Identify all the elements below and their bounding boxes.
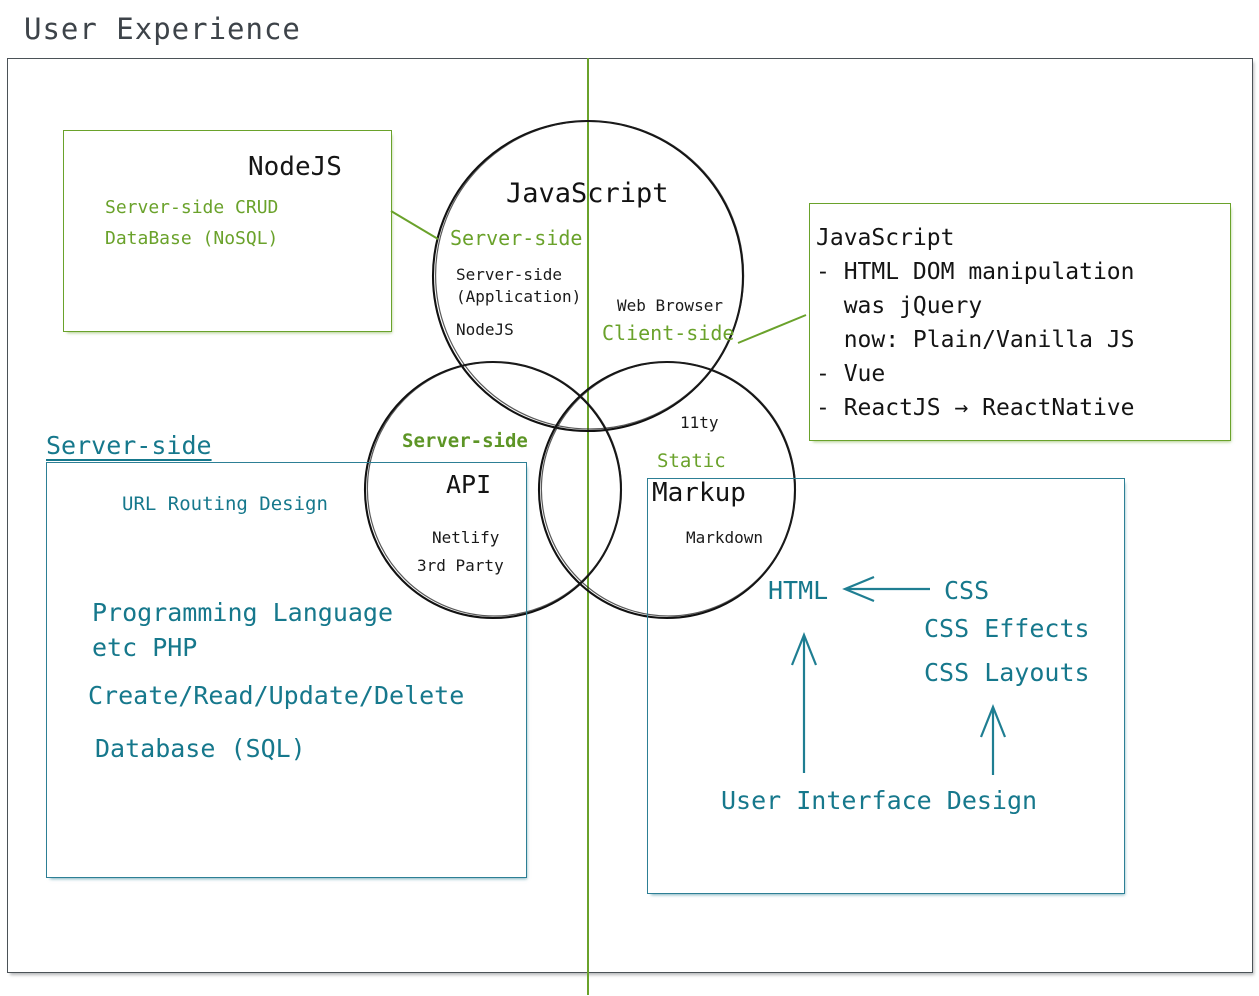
- frontend-css-label: CSS: [944, 576, 989, 605]
- js-detail-line-1: JavaScript: [816, 225, 954, 251]
- js-detail-line-3: was jQuery: [816, 293, 982, 319]
- frontend-user-interface-design-label: User Interface Design: [721, 786, 1037, 815]
- javascript-circle-title: JavaScript: [506, 178, 669, 209]
- nodejs-box-title: NodeJS: [248, 152, 342, 182]
- javascript-server-side-item-3: NodeJS: [456, 320, 514, 339]
- javascript-server-side-label: Server-side: [450, 226, 582, 250]
- js-detail-line-4: now: Plain/Vanilla JS: [816, 327, 1135, 353]
- javascript-client-side-label: Client-side: [602, 321, 734, 345]
- server-programming-language-line-2: etc PHP: [92, 633, 197, 662]
- nodejs-box-line-2: DataBase (NoSQL): [105, 228, 278, 249]
- diagram-canvas: User Experience Nod: [0, 0, 1259, 996]
- frontend-css-layouts-label: CSS Layouts: [924, 658, 1090, 687]
- static-category-label: Static: [657, 450, 726, 472]
- server-url-routing-label: URL Routing Design: [122, 493, 328, 515]
- server-side-panel-heading: Server-side: [46, 431, 212, 460]
- server-crud-label: Create/Read/Update/Delete: [88, 681, 464, 710]
- javascript-web-browser-label: Web Browser: [617, 296, 723, 315]
- frontend-css-effects-label: CSS Effects: [924, 614, 1090, 643]
- api-category-label: Server-side: [402, 430, 528, 452]
- page-title: User Experience: [24, 12, 301, 46]
- server-programming-language-line-1: Programming Language: [92, 598, 393, 627]
- js-detail-line-6: - ReactJS → ReactNative: [816, 395, 1135, 421]
- javascript-server-side-item-1: Server-side: [456, 265, 562, 284]
- server-side-panel: [46, 462, 527, 878]
- nodejs-box-line-1: Server-side CRUD: [105, 197, 278, 218]
- static-overlap-label-11ty: 11ty: [680, 413, 719, 432]
- frontend-html-label: HTML: [768, 576, 828, 605]
- js-detail-line-2: - HTML DOM manipulation: [816, 259, 1135, 285]
- js-detail-line-5: - Vue: [816, 361, 885, 387]
- javascript-server-side-item-2: (Application): [456, 287, 581, 306]
- server-database-label: Database (SQL): [95, 734, 306, 763]
